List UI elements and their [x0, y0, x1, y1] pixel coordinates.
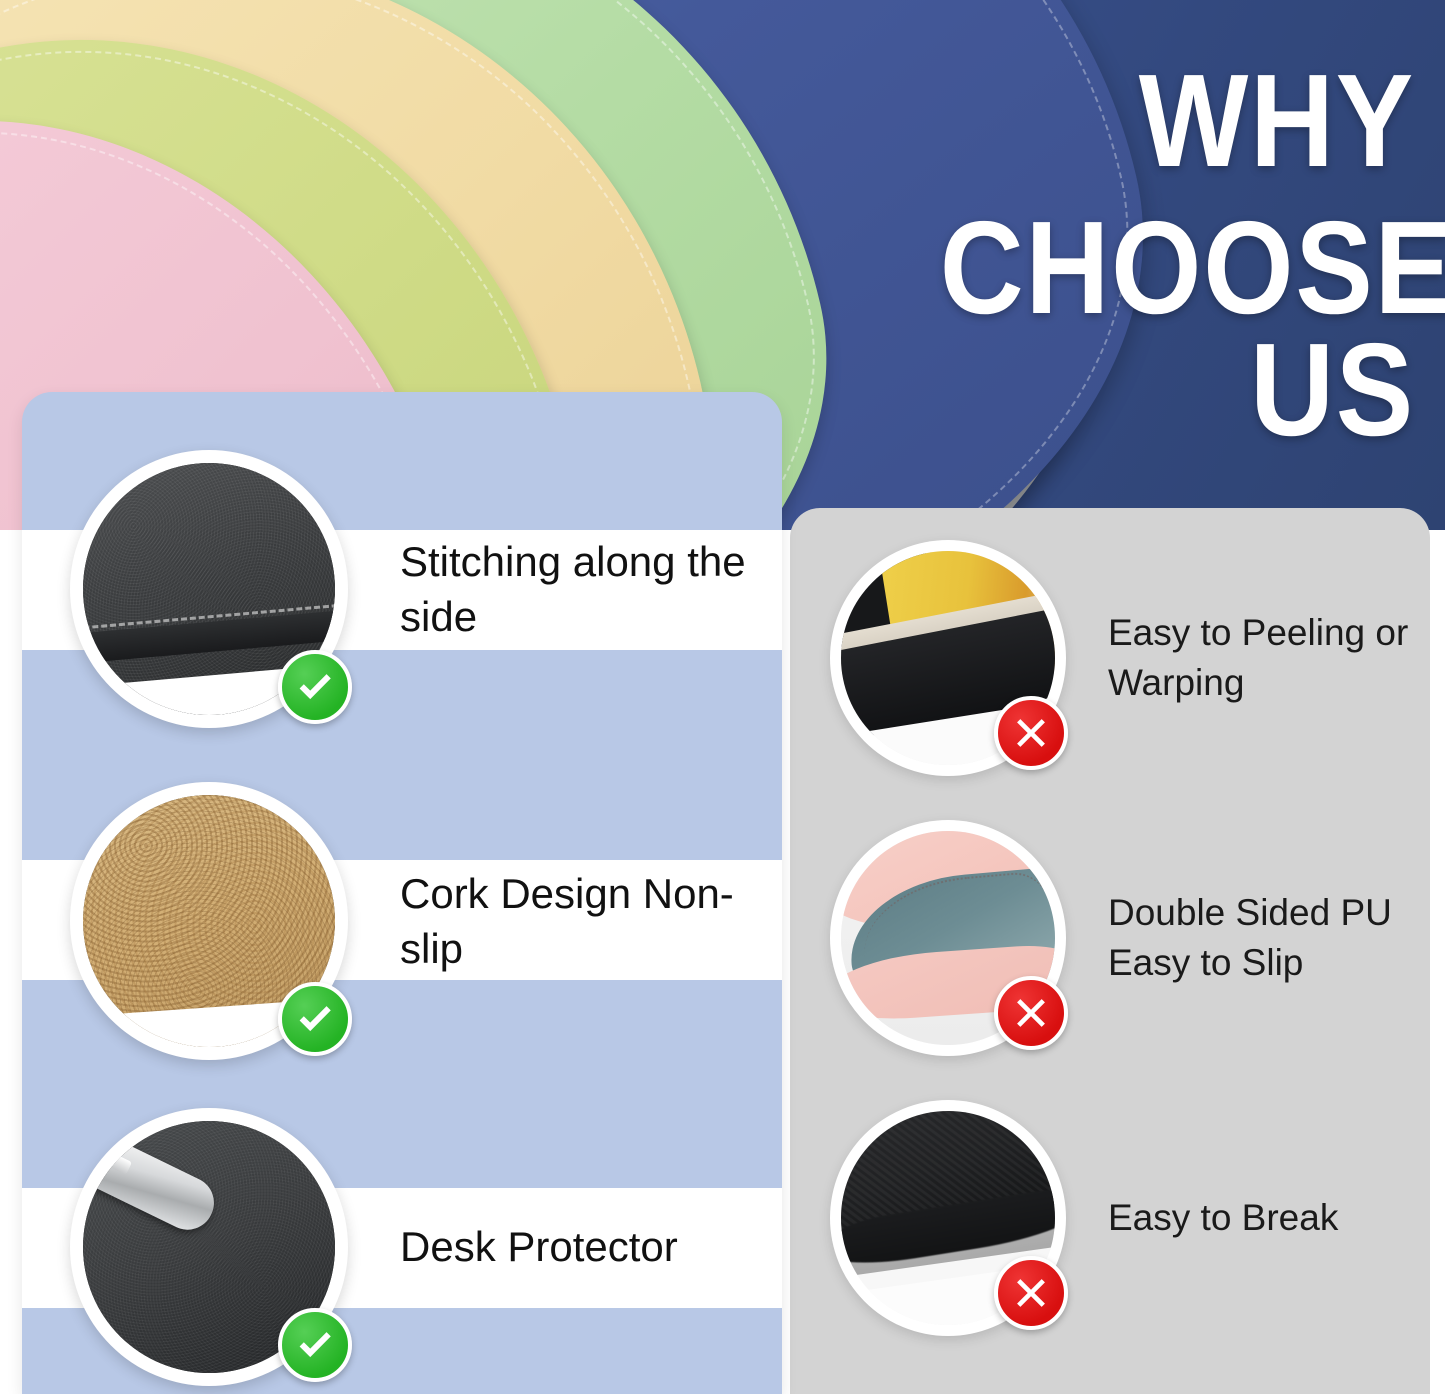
pros-label-1: Stitching along the side [400, 534, 780, 645]
title-line-1: WHY [940, 60, 1415, 181]
cons-panel: Easy to Peeling or Warping Double Sided … [790, 508, 1430, 1394]
pros-panel: Stitching along the side Cork Design Non… [22, 392, 782, 1394]
pros-thumbnail-2 [70, 782, 348, 1060]
cons-label-1: Easy to Peeling or Warping [1108, 608, 1438, 707]
pros-label-3-wrap: Desk Protector [400, 1108, 780, 1386]
check-circle-icon [278, 1308, 352, 1382]
pros-item-1: Stitching along the side [70, 450, 770, 730]
pros-thumbnail-3 [70, 1108, 348, 1386]
pros-label-2: Cork Design Non-slip [400, 866, 780, 977]
cross-circle-icon [994, 976, 1068, 1050]
pros-label-2-wrap: Cork Design Non-slip [400, 782, 780, 1060]
cons-item-1: Easy to Peeling or Warping [830, 540, 1430, 780]
infographic-page: WHY CHOOSE US Easy to Peeling or Warping [0, 0, 1445, 1394]
check-circle-icon [278, 650, 352, 724]
cons-label-3-wrap: Easy to Break [1108, 1100, 1438, 1336]
cons-label-3: Easy to Break [1108, 1193, 1338, 1243]
cons-item-3: Easy to Break [830, 1100, 1430, 1340]
pros-thumbnail-1 [70, 450, 348, 728]
cross-circle-icon [994, 1256, 1068, 1330]
pros-item-3: Desk Protector [70, 1108, 770, 1388]
title-line-2: CHOOSE US [940, 207, 1415, 450]
page-title: WHY CHOOSE US [875, 60, 1415, 450]
cons-label-2: Double Sided PU Easy to Slip [1108, 888, 1438, 987]
pros-label-1-wrap: Stitching along the side [400, 450, 780, 728]
pros-label-3: Desk Protector [400, 1219, 678, 1274]
cons-thumbnail-2 [830, 820, 1066, 1056]
cross-circle-icon [994, 696, 1068, 770]
cons-label-2-wrap: Double Sided PU Easy to Slip [1108, 820, 1438, 1056]
cons-thumbnail-3 [830, 1100, 1066, 1336]
check-circle-icon [278, 982, 352, 1056]
pros-item-2: Cork Design Non-slip [70, 782, 770, 1062]
cons-item-2: Double Sided PU Easy to Slip [830, 820, 1430, 1060]
cons-thumbnail-1 [830, 540, 1066, 776]
cons-label-1-wrap: Easy to Peeling or Warping [1108, 540, 1438, 776]
